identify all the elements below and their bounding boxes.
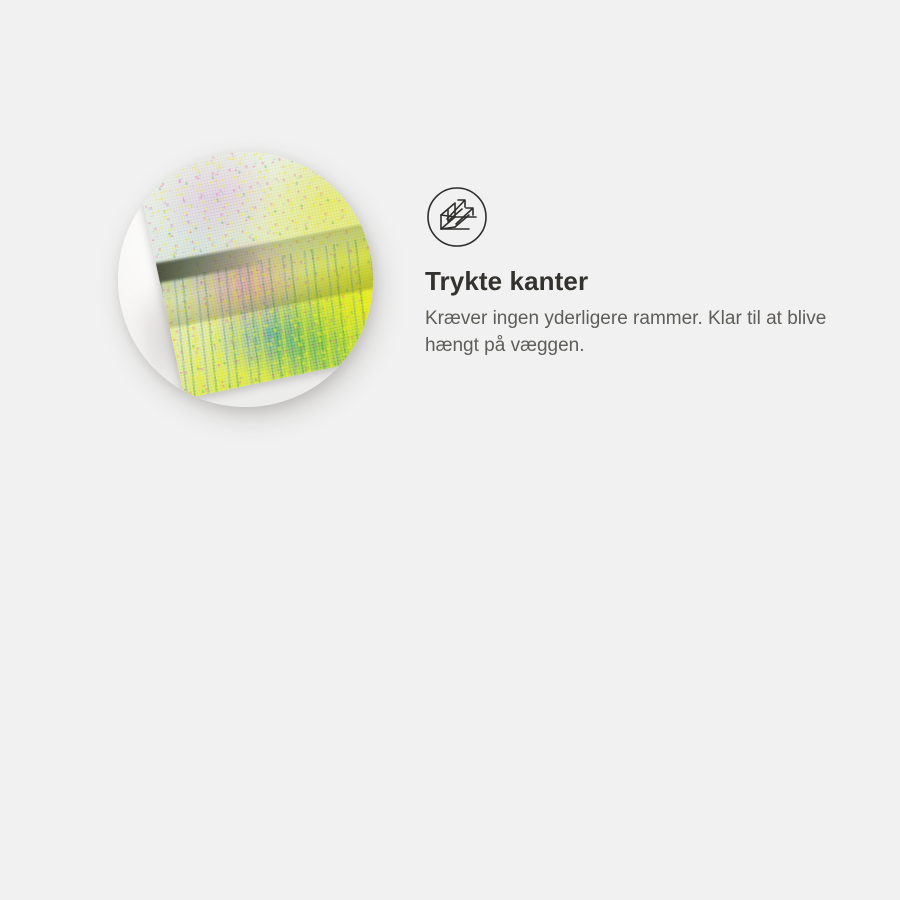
- canvas-corner-artwork: [118, 152, 373, 407]
- feature-block-eco-product: ØKO produkt Vi arbejder med materialer o…: [0, 450, 900, 900]
- feature-block-printed-edges: Trykte kanter Kræver ingen yderligere ra…: [0, 0, 900, 450]
- printed-edges-icon: [426, 186, 488, 248]
- feature-title-printed-edges: Trykte kanter: [425, 266, 588, 297]
- feature-description-printed-edges: Kræver ingen yderligere rammer. Klar til…: [425, 306, 851, 359]
- canvas-print-corner-photo: [118, 152, 373, 407]
- product-features-page: Trykte kanter Kræver ingen yderligere ra…: [0, 0, 900, 900]
